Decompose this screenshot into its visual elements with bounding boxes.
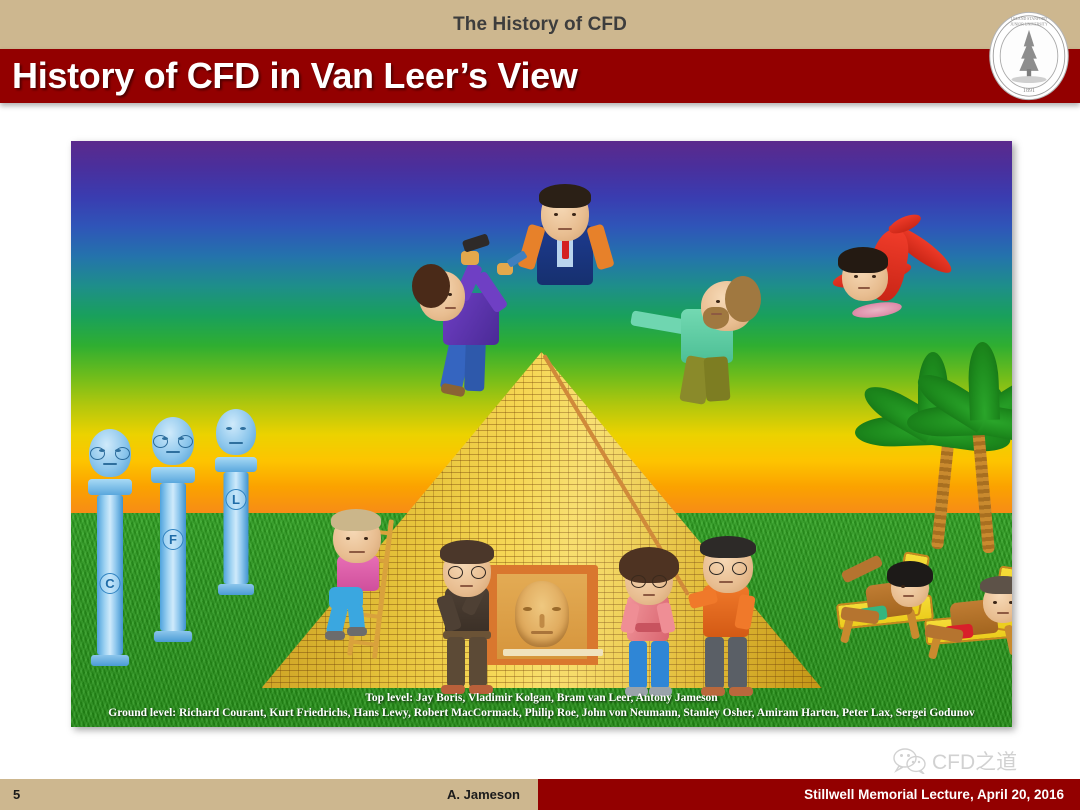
pillar-letter-l: L [226,489,247,510]
illustration-image: C F L [71,141,1012,727]
orange-shirt-figure [683,537,765,703]
palm-tree-right [939,379,1012,549]
thinking-figure [427,539,507,699]
carved-portrait-face [515,581,569,647]
header-subtitle-band: The History of CFD [0,0,1080,49]
slide: The History of CFD History of CFD in Van… [0,0,1080,810]
woman-figure [611,549,685,701]
watermark-text: CFD之道 [932,746,1017,776]
footer-right-band: Stillwell Memorial Lecture, April 20, 20… [538,779,1080,810]
pillar-friedrichs: F [144,417,202,667]
pillar-lewy: L [207,409,265,629]
stanford-seal-logo: 1891 LELAND STANFORD JUNIOR UNIVERSITY [985,8,1073,104]
pillar-courant: C [81,429,139,669]
hammer-figure [411,253,541,393]
header-subtitle: The History of CFD [453,14,627,36]
svg-text:LELAND STANFORD: LELAND STANFORD [1011,17,1047,21]
svg-text:JUNIOR UNIVERSITY: JUNIOR UNIVERSITY [1010,22,1048,26]
seal-year: 1891 [1023,88,1035,94]
footer-lecture: Stillwell Memorial Lecture, April 20, 20… [804,787,1064,802]
wechat-icon [893,748,927,774]
doorway-step [503,649,603,656]
illustration-caption: Top level: Jay Boris, Vladimir Kolgan, B… [71,691,1012,722]
footer-left-band: 5 A. Jameson [0,779,538,810]
page-title: History of CFD in Van Leer’s View [12,55,578,97]
deck-chair-2 [919,553,1012,663]
plane-figure [826,219,956,329]
pillar-letter-f: F [163,529,184,550]
doorway-panel [497,574,587,659]
deckchair-figure-2 [925,573,1012,653]
caption-top-level: Top level: Jay Boris, Vladimir Kolgan, B… [71,691,1012,707]
ladder-figure [319,509,399,639]
rope-figure [631,281,761,421]
caption-ground-level: Ground level: Richard Courant, Kurt Frie… [71,706,1012,722]
footer-author: A. Jameson [447,787,520,802]
pillar-letter-c: C [100,573,121,594]
wechat-watermark: CFD之道 [893,742,1071,780]
header-title-band: History of CFD in Van Leer’s View [0,49,1080,103]
plane-propeller [851,300,902,321]
page-number: 5 [13,787,20,802]
